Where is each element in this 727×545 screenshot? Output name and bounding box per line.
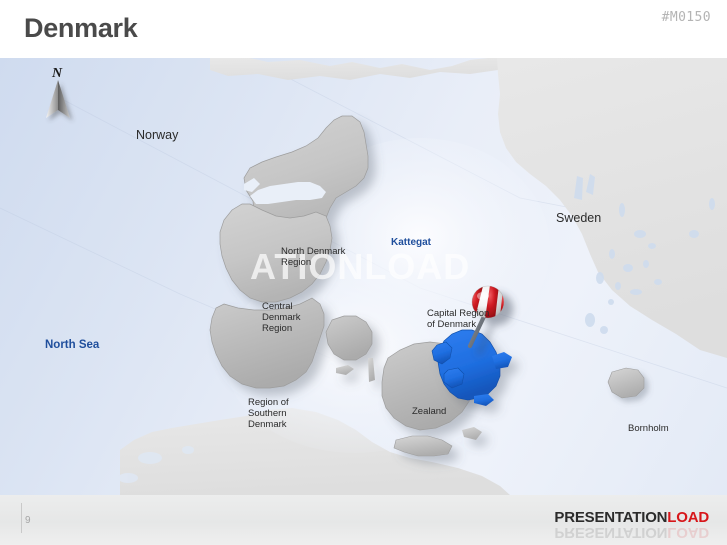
country-norway[interactable] [210,58,500,80]
brand-logo-reflection: PRESENTATIONLOAD [554,524,709,541]
map-vector [0,58,727,495]
island-lolland-falster[interactable] [394,436,452,456]
country-label-norway: Norway [136,128,178,143]
footer-divider [21,503,22,533]
island-bornholm-shape[interactable] [608,368,644,398]
country-label-sweden: Sweden [556,211,601,226]
slide: Denmark #M0150 [0,0,727,545]
page-title: Denmark [24,13,137,44]
island-mon [462,427,482,440]
sea-label-kattegat: Kattegat [391,237,431,249]
template-code: #M0150 [662,10,711,25]
compass: N [40,66,84,132]
island-label-bornholm: Bornholm [628,423,669,434]
sea-label-north-sea: North Sea [45,339,99,353]
slide-footer: 9 PRESENTATIONLOAD PRESENTATIONLOAD [0,495,727,545]
brand-load-reflection: LOAD [667,524,709,541]
map-canvas[interactable]: ATIONLOAD N [0,58,727,495]
north-arrow-icon [40,66,84,132]
slide-header: Denmark #M0150 [0,0,727,58]
brand-presentation-reflection: PRESENTATION [554,524,667,541]
island-label-zealand: Zealand [412,406,446,417]
page-number: 9 [25,515,31,526]
